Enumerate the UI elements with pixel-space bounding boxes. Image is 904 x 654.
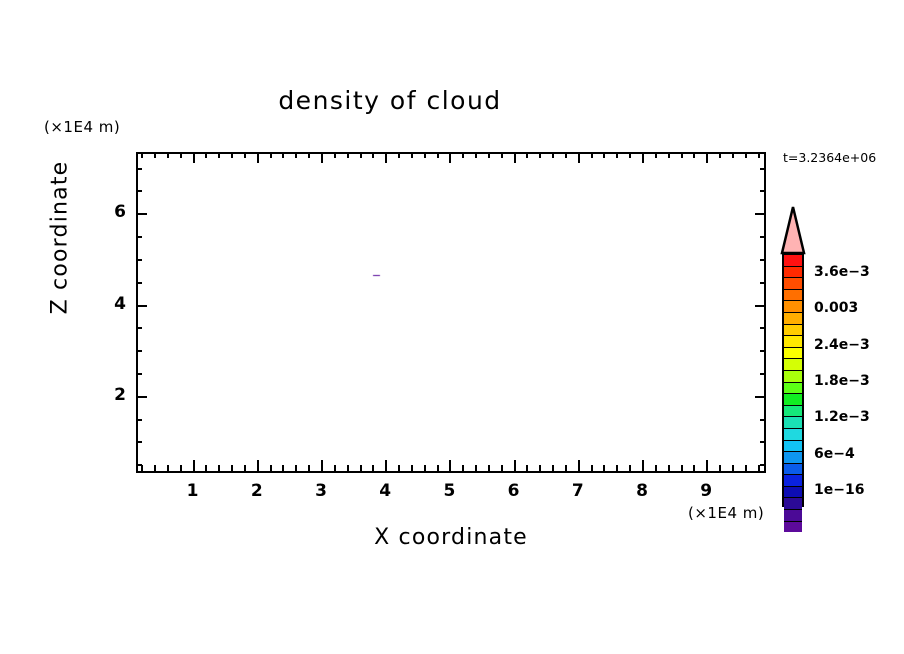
x-tick-label: 3 <box>306 481 336 501</box>
colorbar-band <box>784 463 802 475</box>
x-major-tick-top <box>514 152 516 163</box>
x-tick-label: 4 <box>370 481 400 501</box>
y-minor-tick-right <box>760 168 766 170</box>
colorbar-band <box>784 497 802 509</box>
x-minor-tick <box>552 465 554 471</box>
colorbar-band <box>784 358 802 370</box>
x-minor-tick-top <box>745 152 747 158</box>
colorbar-band <box>784 324 802 336</box>
y-minor-tick <box>136 441 142 443</box>
colorbar-tick-label: 6e−4 <box>814 446 855 462</box>
x-minor-tick <box>565 465 567 471</box>
x-major-tick-top <box>193 152 195 163</box>
plot-area <box>136 152 766 473</box>
x-minor-tick-top <box>475 152 477 158</box>
y-minor-tick <box>136 419 142 421</box>
y-minor-tick-right <box>760 373 766 375</box>
x-minor-tick <box>295 465 297 471</box>
x-minor-tick <box>372 465 374 471</box>
y-minor-tick-right <box>760 441 766 443</box>
colorbar-tick-label: 2.4e−3 <box>814 337 870 353</box>
colorbar-band <box>784 289 802 301</box>
x-major-tick <box>706 460 708 471</box>
y-minor-tick <box>136 259 142 261</box>
y-tick-label: 4 <box>96 294 126 314</box>
x-minor-tick <box>462 465 464 471</box>
x-major-tick <box>449 460 451 471</box>
y-axis-title: Z coordinate <box>48 138 73 338</box>
y-major-tick-right <box>755 213 766 215</box>
x-major-tick-top <box>321 152 323 163</box>
colorbar-band <box>784 277 802 289</box>
x-minor-tick-top <box>308 152 310 158</box>
y-minor-tick <box>136 327 142 329</box>
x-minor-tick <box>180 465 182 471</box>
x-minor-tick <box>629 465 631 471</box>
x-major-tick <box>642 460 644 471</box>
colorbar-band <box>784 255 802 266</box>
y-minor-tick-right <box>760 350 766 352</box>
x-major-tick <box>514 460 516 471</box>
x-minor-tick-top <box>180 152 182 158</box>
y-minor-tick-right <box>760 282 766 284</box>
x-minor-tick <box>745 465 747 471</box>
time-annotation: t=3.2364e+06 <box>783 150 876 165</box>
y-minor-tick-right <box>760 327 766 329</box>
x-minor-tick-top <box>526 152 528 158</box>
x-minor-tick <box>437 465 439 471</box>
colorbar-bands <box>782 253 804 507</box>
x-major-tick <box>321 460 323 471</box>
x-minor-tick-top <box>501 152 503 158</box>
y-major-tick <box>136 305 147 307</box>
colorbar-band <box>784 335 802 347</box>
x-minor-tick-top <box>719 152 721 158</box>
y-major-tick-right <box>755 396 766 398</box>
colorbar-band <box>784 474 802 486</box>
x-minor-tick <box>360 465 362 471</box>
x-minor-tick <box>244 465 246 471</box>
x-minor-tick <box>501 465 503 471</box>
x-minor-tick-top <box>167 152 169 158</box>
colorbar-band <box>784 428 802 440</box>
x-minor-tick-top <box>565 152 567 158</box>
x-minor-tick <box>732 465 734 471</box>
colorbar-band <box>784 312 802 324</box>
x-minor-tick <box>539 465 541 471</box>
x-minor-tick-top <box>539 152 541 158</box>
y-minor-tick <box>136 236 142 238</box>
x-tick-label: 1 <box>178 481 208 501</box>
y-major-tick <box>136 396 147 398</box>
colorbar-band <box>784 416 802 428</box>
x-major-tick-top <box>449 152 451 163</box>
x-minor-tick-top <box>603 152 605 158</box>
colorbar-tick-label: 1e−16 <box>814 482 864 498</box>
x-major-tick <box>385 460 387 471</box>
x-minor-tick-top <box>693 152 695 158</box>
x-minor-tick <box>603 465 605 471</box>
page-title: density of cloud <box>0 86 780 115</box>
x-minor-tick-top <box>295 152 297 158</box>
x-minor-tick <box>411 465 413 471</box>
x-major-tick <box>193 460 195 471</box>
y-minor-tick <box>136 168 142 170</box>
x-minor-tick-top <box>488 152 490 158</box>
x-major-tick <box>257 460 259 471</box>
x-minor-tick-top <box>681 152 683 158</box>
x-minor-tick-top <box>347 152 349 158</box>
x-minor-tick-top <box>629 152 631 158</box>
x-minor-tick <box>334 465 336 471</box>
x-minor-tick-top <box>231 152 233 158</box>
x-minor-tick-top <box>141 152 143 158</box>
x-major-tick-top <box>385 152 387 163</box>
y-tick-label: 2 <box>96 385 126 405</box>
y-minor-tick <box>136 282 142 284</box>
y-major-tick-right <box>755 305 766 307</box>
x-minor-tick <box>681 465 683 471</box>
x-minor-tick <box>347 465 349 471</box>
density-field-heatmap <box>138 154 764 471</box>
x-major-tick-top <box>706 152 708 163</box>
x-minor-tick-top <box>616 152 618 158</box>
x-minor-tick-top <box>398 152 400 158</box>
figure-canvas: density of cloud (×1E4 m) (×1E4 m) t=3.2… <box>0 0 904 654</box>
x-tick-label: 8 <box>627 481 657 501</box>
x-minor-tick <box>475 465 477 471</box>
colorbar-band <box>784 486 802 498</box>
z-axis-unit-label: (×1E4 m) <box>44 118 120 136</box>
x-tick-label: 7 <box>563 481 593 501</box>
colorbar-band <box>784 509 802 521</box>
y-minor-tick <box>136 190 142 192</box>
colorbar-band <box>784 451 802 463</box>
y-tick-label: 6 <box>96 202 126 222</box>
y-minor-tick-right <box>760 259 766 261</box>
x-minor-tick-top <box>154 152 156 158</box>
x-minor-tick <box>205 465 207 471</box>
x-minor-tick-top <box>244 152 246 158</box>
x-major-tick-top <box>578 152 580 163</box>
x-minor-tick-top <box>270 152 272 158</box>
x-minor-tick-top <box>437 152 439 158</box>
colorbar-band <box>784 405 802 417</box>
x-major-tick <box>578 460 580 471</box>
x-minor-tick-top <box>758 152 760 158</box>
x-minor-tick-top <box>282 152 284 158</box>
colorbar-band <box>784 521 802 533</box>
x-minor-tick <box>668 465 670 471</box>
colorbar-tick-label: 3.6e−3 <box>814 264 870 280</box>
x-minor-tick-top <box>205 152 207 158</box>
x-axis-title: X coordinate <box>136 525 766 550</box>
y-minor-tick-right <box>760 190 766 192</box>
x-tick-label: 5 <box>434 481 464 501</box>
x-minor-tick <box>526 465 528 471</box>
y-major-tick <box>136 213 147 215</box>
x-minor-tick-top <box>732 152 734 158</box>
y-minor-tick <box>136 464 142 466</box>
x-major-tick-top <box>257 152 259 163</box>
x-minor-tick-top <box>334 152 336 158</box>
colorbar-tick-label: 1.2e−3 <box>814 409 870 425</box>
x-minor-tick <box>398 465 400 471</box>
x-minor-tick <box>693 465 695 471</box>
x-minor-tick <box>231 465 233 471</box>
x-tick-label: 2 <box>242 481 272 501</box>
y-minor-tick-right <box>760 236 766 238</box>
x-tick-label: 6 <box>499 481 529 501</box>
x-minor-tick <box>167 465 169 471</box>
colorbar-tip-icon <box>780 205 806 255</box>
x-minor-tick <box>488 465 490 471</box>
colorbar-band <box>784 300 802 312</box>
y-minor-tick <box>136 373 142 375</box>
x-minor-tick-top <box>462 152 464 158</box>
colorbar-tick-label: 0.003 <box>814 300 858 316</box>
x-minor-tick-top <box>655 152 657 158</box>
x-minor-tick-top <box>411 152 413 158</box>
x-minor-tick <box>270 465 272 471</box>
x-minor-tick-top <box>372 152 374 158</box>
y-minor-tick <box>136 350 142 352</box>
x-minor-tick <box>218 465 220 471</box>
x-minor-tick-top <box>360 152 362 158</box>
x-minor-tick-top <box>552 152 554 158</box>
x-minor-tick <box>591 465 593 471</box>
x-minor-tick-top <box>591 152 593 158</box>
colorbar-band <box>784 266 802 278</box>
x-minor-tick <box>719 465 721 471</box>
colorbar-tick-label: 1.8e−3 <box>814 373 870 389</box>
x-minor-tick-top <box>218 152 220 158</box>
x-minor-tick <box>424 465 426 471</box>
colorbar-band <box>784 370 802 382</box>
colorbar-band <box>784 440 802 452</box>
x-minor-tick <box>282 465 284 471</box>
colorbar-band <box>784 382 802 394</box>
x-major-tick-top <box>642 152 644 163</box>
x-minor-tick <box>154 465 156 471</box>
x-minor-tick <box>655 465 657 471</box>
x-minor-tick <box>616 465 618 471</box>
y-minor-tick-right <box>760 419 766 421</box>
x-axis-unit-label: (×1E4 m) <box>688 504 764 522</box>
y-minor-tick-right <box>760 464 766 466</box>
x-minor-tick-top <box>668 152 670 158</box>
colorbar-band <box>784 393 802 405</box>
colorbar-band <box>784 347 802 359</box>
x-minor-tick-top <box>424 152 426 158</box>
x-tick-label: 9 <box>691 481 721 501</box>
x-minor-tick <box>308 465 310 471</box>
